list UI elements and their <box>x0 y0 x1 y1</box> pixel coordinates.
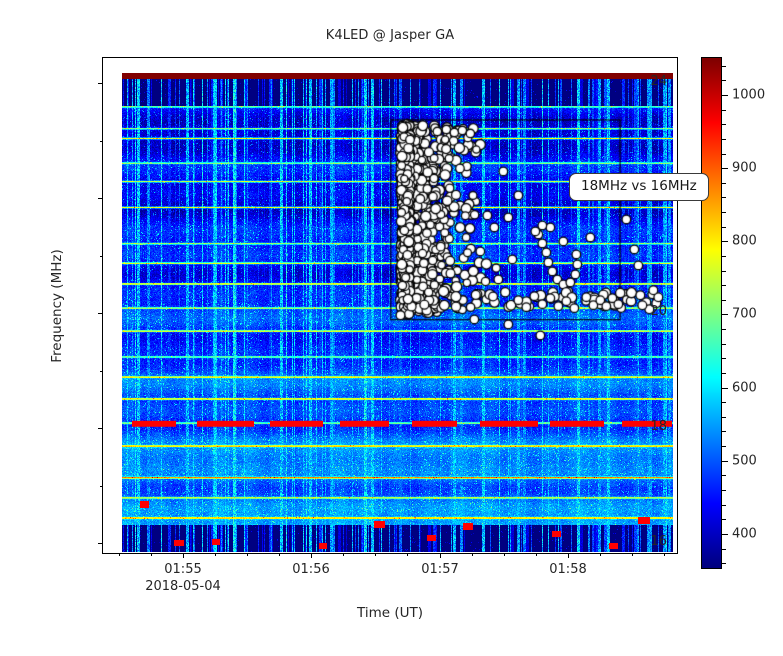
colorbar-tick-mark <box>722 388 728 389</box>
y-axis-title: Frequency (MHz) <box>49 249 65 362</box>
x-tick-label: 01:56 <box>292 562 329 577</box>
x-tick-mark <box>568 553 569 558</box>
x-tick-mark <box>183 553 184 558</box>
colorbar-tick-mark <box>722 534 728 535</box>
colorbar-tick-label: 900 <box>732 161 757 176</box>
x-minor-tick-mark <box>632 553 633 556</box>
colorbar-minor-tick-mark <box>722 256 726 257</box>
colorbar-minor-tick-mark <box>722 197 726 198</box>
colorbar-minor-tick-mark <box>722 66 726 67</box>
x-minor-tick-mark <box>215 553 216 556</box>
colorbar-minor-tick-mark <box>722 402 726 403</box>
y-tick-label: 16 <box>650 534 667 549</box>
x-minor-tick-mark <box>119 553 120 556</box>
scatter-overlay <box>122 73 673 552</box>
colorbar: 4005006007008009001000 <box>701 57 722 569</box>
colorbar-minor-tick-mark <box>722 431 726 432</box>
colorbar-minor-tick-mark <box>722 300 726 301</box>
y-tick-mark <box>98 198 103 199</box>
colorbar-tick-label: 1000 <box>732 88 765 103</box>
colorbar-minor-tick-mark <box>722 227 726 228</box>
colorbar-minor-tick-mark <box>722 563 726 564</box>
y-tick-mark <box>98 313 103 314</box>
x-axis-date-label: 2018-05-04 <box>145 579 221 594</box>
figure-title: K4LED @ Jasper GA <box>102 28 678 43</box>
y-tick-mark <box>98 83 103 84</box>
spectrogram-axes: 18MHz vs 16MHz 1618202224 01:5501:5601:5… <box>102 57 678 554</box>
y-minor-tick-mark <box>100 141 103 142</box>
colorbar-minor-tick-mark <box>722 475 726 476</box>
annotation-label: 18MHz vs 16MHz <box>569 173 709 201</box>
colorbar-tick-mark <box>722 461 728 462</box>
y-minor-tick-mark <box>100 486 103 487</box>
colorbar-tick-label: 500 <box>732 453 757 468</box>
x-tick-label: 01:58 <box>549 562 586 577</box>
y-tick-label: 24 <box>650 74 667 89</box>
x-minor-tick-mark <box>279 553 280 556</box>
colorbar-tick-mark <box>722 241 728 242</box>
colorbar-minor-tick-mark <box>722 285 726 286</box>
x-tick-label: 01:57 <box>421 562 458 577</box>
colorbar-tick-label: 600 <box>732 380 757 395</box>
x-minor-tick-mark <box>472 553 473 556</box>
x-tick-mark <box>311 553 312 558</box>
y-tick-label: 18 <box>650 419 667 434</box>
colorbar-minor-tick-mark <box>722 373 726 374</box>
x-minor-tick-mark <box>407 553 408 556</box>
colorbar-minor-tick-mark <box>722 183 726 184</box>
colorbar-minor-tick-mark <box>722 549 726 550</box>
colorbar-minor-tick-mark <box>722 417 726 418</box>
x-tick-mark <box>440 553 441 558</box>
x-axis-title: Time (UT) <box>102 605 678 621</box>
colorbar-tick-label: 700 <box>732 307 757 322</box>
x-minor-tick-mark <box>247 553 248 556</box>
y-tick-label: 20 <box>650 304 667 319</box>
colorbar-minor-tick-mark <box>722 80 726 81</box>
x-minor-tick-mark <box>151 553 152 556</box>
colorbar-gradient <box>701 57 722 569</box>
colorbar-minor-tick-mark <box>722 519 726 520</box>
x-minor-tick-mark <box>343 553 344 556</box>
x-minor-tick-mark <box>375 553 376 556</box>
figure-canvas: K4LED @ Jasper GA 18MHz vs 16MHz 1618202… <box>0 0 783 656</box>
colorbar-minor-tick-mark <box>722 110 726 111</box>
x-minor-tick-mark <box>504 553 505 556</box>
colorbar-minor-tick-mark <box>722 358 726 359</box>
colorbar-minor-tick-mark <box>722 490 726 491</box>
x-tick-label: 01:55 <box>164 562 201 577</box>
colorbar-minor-tick-mark <box>722 446 726 447</box>
colorbar-minor-tick-mark <box>722 271 726 272</box>
colorbar-minor-tick-mark <box>722 124 726 125</box>
x-minor-tick-mark <box>536 553 537 556</box>
x-minor-tick-mark <box>600 553 601 556</box>
colorbar-minor-tick-mark <box>722 329 726 330</box>
colorbar-tick-mark <box>722 168 728 169</box>
colorbar-tick-label: 800 <box>732 234 757 249</box>
colorbar-tick-label: 400 <box>732 526 757 541</box>
y-tick-mark <box>98 543 103 544</box>
x-minor-tick-mark <box>664 553 665 556</box>
colorbar-minor-tick-mark <box>722 344 726 345</box>
colorbar-tick-mark <box>722 95 728 96</box>
colorbar-minor-tick-mark <box>722 139 726 140</box>
colorbar-minor-tick-mark <box>722 505 726 506</box>
y-minor-tick-mark <box>100 371 103 372</box>
colorbar-minor-tick-mark <box>722 212 726 213</box>
y-tick-mark <box>98 428 103 429</box>
colorbar-minor-tick-mark <box>722 154 726 155</box>
colorbar-tick-mark <box>722 314 728 315</box>
y-minor-tick-mark <box>100 256 103 257</box>
